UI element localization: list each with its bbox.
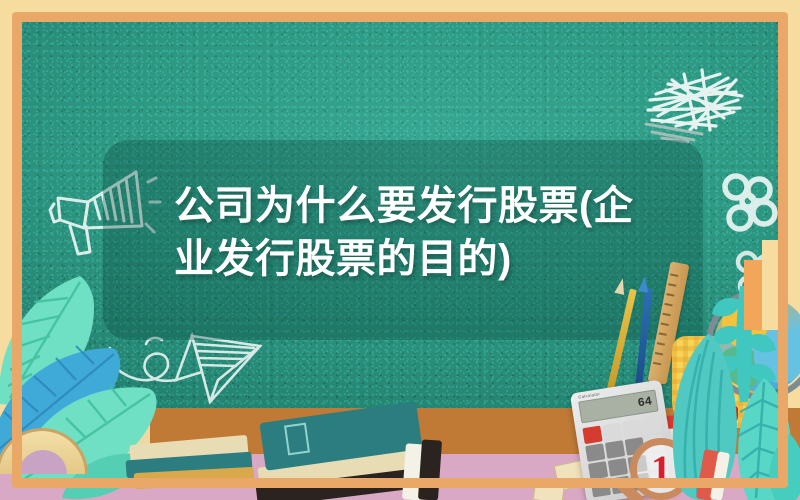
picture-frame-border	[12, 12, 788, 488]
cover-image-stage: 公司为什么要发行股票(企 业发行股票的目的)	[0, 0, 800, 500]
